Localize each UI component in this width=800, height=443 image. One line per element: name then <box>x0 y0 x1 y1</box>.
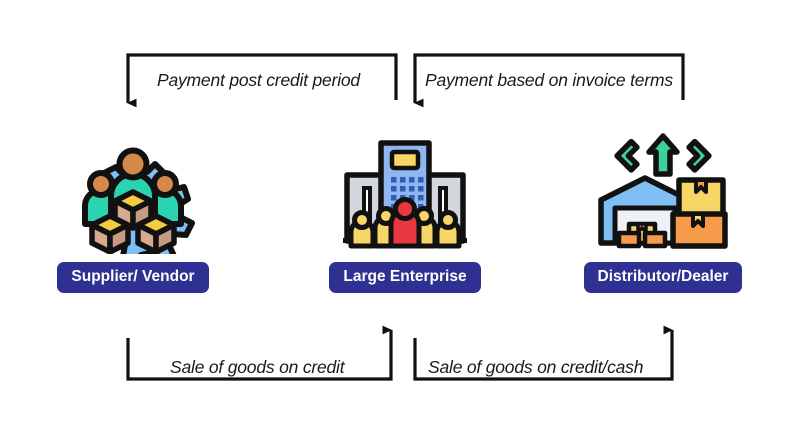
warehouse-boxes-arrows-icon <box>593 128 733 254</box>
office-building-people-icon <box>335 128 475 254</box>
diagram-canvas: Payment post credit period Payment based… <box>0 0 800 443</box>
flow-label-payment-based-on-invoice-terms: Payment based on invoice terms <box>425 70 673 91</box>
node-label-supplier: Supplier/ Vendor <box>57 262 208 293</box>
node-label-distributor: Distributor/Dealer <box>584 262 743 293</box>
supplier-people-gear-boxes-icon <box>63 128 203 254</box>
flow-label-sale-of-goods-on-credit: Sale of goods on credit <box>170 357 344 378</box>
node-label-large-enterprise: Large Enterprise <box>329 262 480 293</box>
node-supplier[interactable]: Supplier/ Vendor <box>53 128 213 293</box>
flow-label-payment-post-credit-period: Payment post credit period <box>157 70 360 91</box>
flow-label-sale-of-goods-on-credit-cash: Sale of goods on credit/cash <box>428 357 643 378</box>
node-distributor[interactable]: Distributor/Dealer <box>583 128 743 293</box>
node-large-enterprise[interactable]: Large Enterprise <box>325 128 485 293</box>
